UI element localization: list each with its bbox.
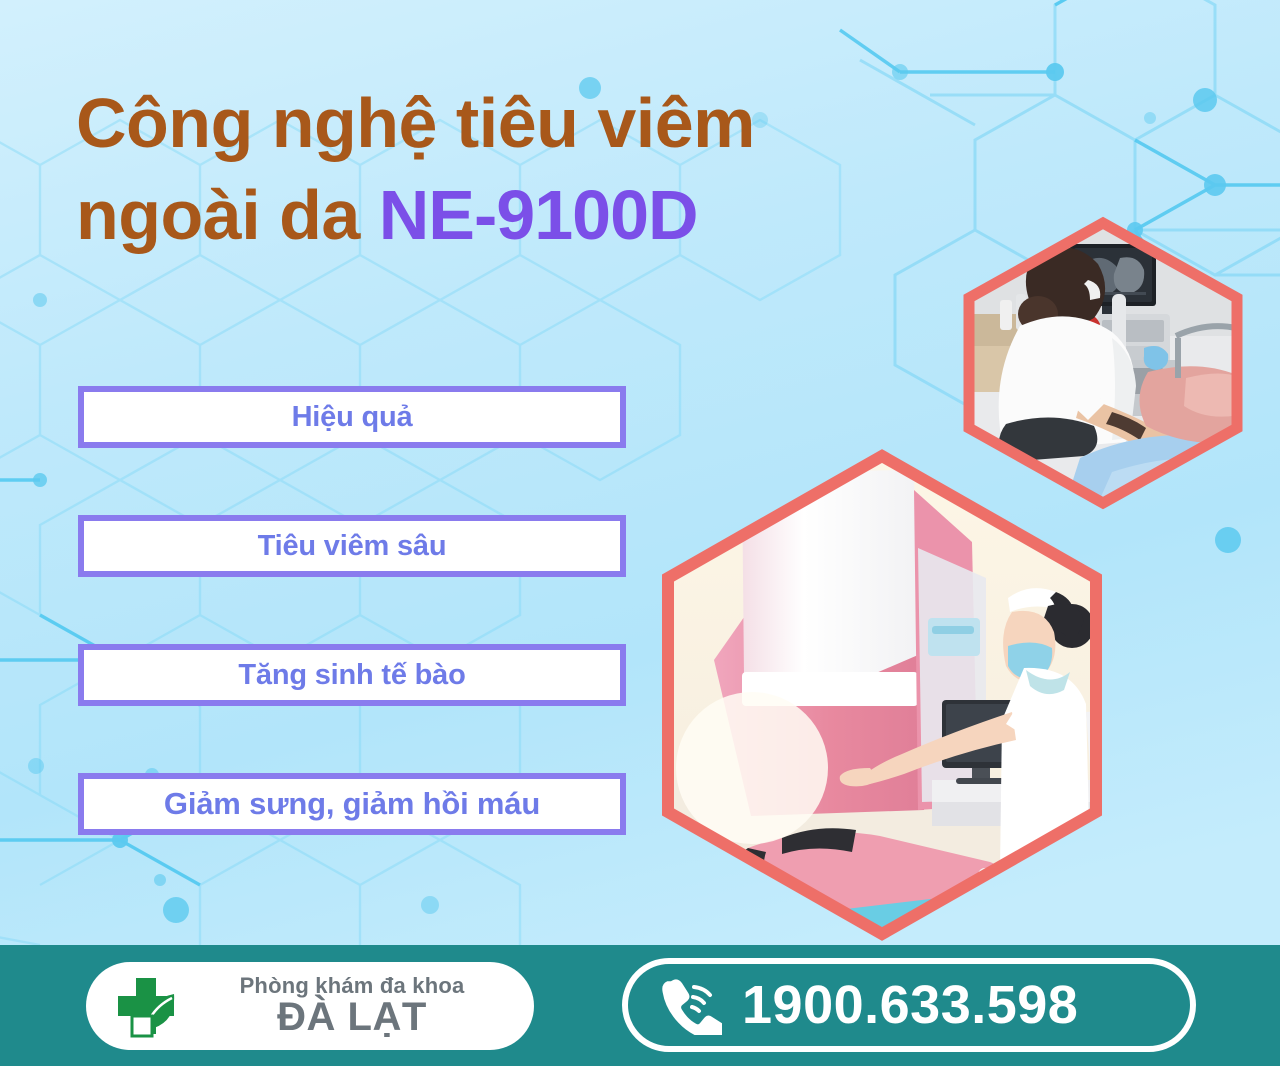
- feature-list: Hiệu quả Tiêu viêm sâu Tăng sinh tế bào …: [78, 386, 626, 835]
- clinic-name: ĐÀ LẠT: [277, 996, 427, 1038]
- phone-ringing-icon: [662, 975, 722, 1035]
- feature-item-1[interactable]: Hiệu quả: [78, 386, 626, 448]
- feature-label: Tiêu viêm sâu: [258, 530, 447, 563]
- feature-label: Tăng sinh tế bào: [238, 659, 465, 692]
- feature-label: Giảm sưng, giảm hồi máu: [164, 786, 540, 822]
- feature-item-4[interactable]: Giảm sưng, giảm hồi máu: [78, 773, 626, 835]
- footer-bar: Phòng khám đa khoa ĐÀ LẠT 1900.633.598: [0, 945, 1280, 1066]
- ultrasound-exam-photo: [962, 218, 1244, 508]
- headline-line-2-prefix: ngoài da: [76, 176, 379, 254]
- promo-banner: Công nghệ tiêu viêm ngoài da NE-9100D Hi…: [0, 0, 1280, 1066]
- clinic-identity: Phòng khám đa khoa ĐÀ LẠT: [86, 962, 534, 1050]
- feature-label: Hiệu quả: [292, 401, 413, 434]
- therapy-machine-photo: [656, 450, 1108, 940]
- headline-line-2: ngoài da NE-9100D: [76, 178, 1016, 254]
- product-model-name: NE-9100D: [379, 176, 698, 254]
- green-cross-leaf-logo: [110, 970, 182, 1042]
- headline: Công nghệ tiêu viêm ngoài da NE-9100D: [76, 86, 1016, 253]
- headline-line-1: Công nghệ tiêu viêm: [76, 86, 1016, 162]
- feature-item-3[interactable]: Tăng sinh tế bào: [78, 644, 626, 706]
- feature-item-2[interactable]: Tiêu viêm sâu: [78, 515, 626, 577]
- hotline-button[interactable]: 1900.633.598: [622, 958, 1196, 1052]
- hotline-number: 1900.633.598: [742, 974, 1078, 1036]
